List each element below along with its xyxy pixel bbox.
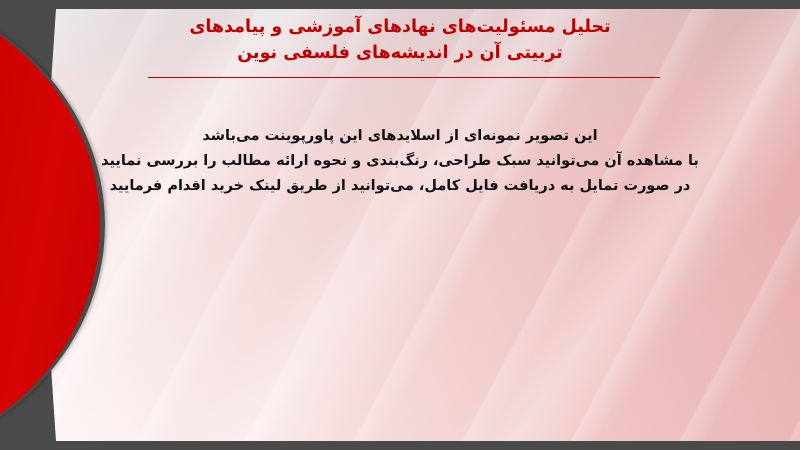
slide-content-panel [0, 9, 800, 441]
title-underline-rule [148, 77, 660, 78]
top-frame-band [0, 0, 800, 10]
body-text-block: این تصویر نمونه‌ای از اسلایدهای این پاور… [55, 124, 745, 199]
title-line-2: تربیتی آن در اندیشه‌های فلسفی نوین [110, 40, 690, 66]
body-line-2: با مشاهده آن می‌توانید سبک طراحی، رنگ‌بن… [55, 149, 745, 174]
title-line-1: تحلیل مسئولیت‌های نهادهای آموزشی و پیامد… [110, 14, 690, 40]
body-line-3: در صورت تمایل به دریافت فایل کامل، می‌تو… [55, 174, 745, 199]
page-title: تحلیل مسئولیت‌های نهادهای آموزشی و پیامد… [110, 14, 690, 66]
slide-canvas: تحلیل مسئولیت‌های نهادهای آموزشی و پیامد… [0, 0, 800, 450]
body-line-1: این تصویر نمونه‌ای از اسلایدهای این پاور… [55, 124, 745, 149]
